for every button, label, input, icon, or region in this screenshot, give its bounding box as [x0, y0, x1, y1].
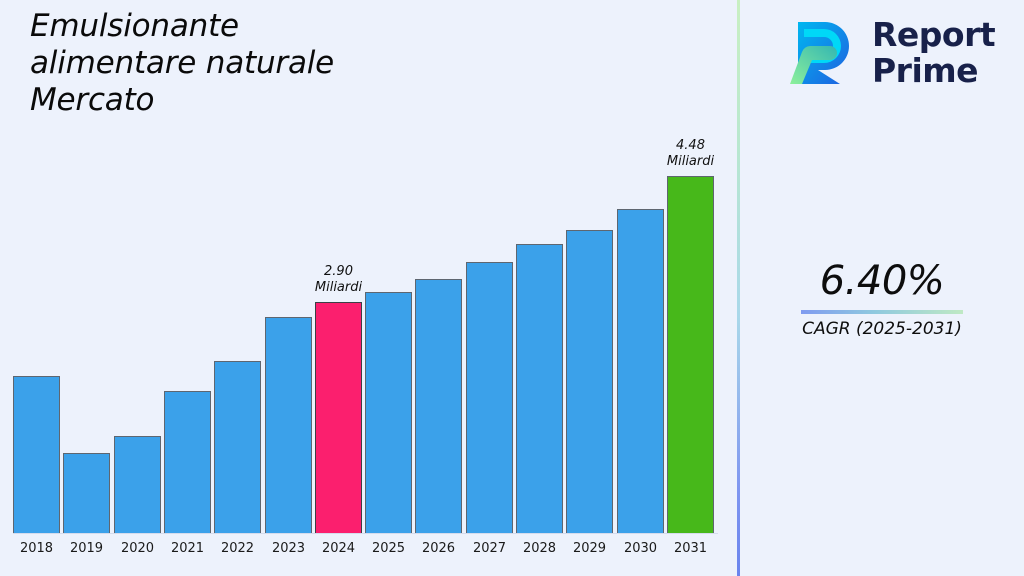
x-axis-line [13, 533, 718, 534]
bar-2023 [265, 317, 312, 533]
bar-2020 [114, 436, 161, 533]
logo-text: Report Prime [872, 17, 995, 89]
x-axis-tick-2027: 2027 [465, 541, 515, 556]
bar-2029 [566, 230, 613, 533]
x-axis-tick-2022: 2022 [213, 541, 263, 556]
bar-2019 [63, 453, 110, 533]
report-prime-r-mark-icon [778, 12, 860, 94]
cagr-caption: CAGR (2025-2031) [740, 318, 1024, 340]
bar-2031 [667, 176, 714, 533]
bar-chart-plot: 2018201920202021202220232.90 Miliardi202… [0, 0, 738, 576]
bar-2026 [415, 279, 462, 533]
x-axis-tick-2030: 2030 [616, 541, 666, 556]
cagr-block: 6.40% CAGR (2025-2031) [740, 258, 1024, 340]
bar-2018 [13, 376, 60, 533]
x-axis-tick-2019: 2019 [62, 541, 112, 556]
x-axis-tick-2024: 2024 [314, 541, 364, 556]
x-axis-tick-2031: 2031 [666, 541, 716, 556]
x-axis-tick-2029: 2029 [565, 541, 615, 556]
logo: Report Prime [778, 12, 995, 94]
bar-value-label-2031: 4.48 Miliardi [646, 138, 736, 170]
bar-2021 [164, 391, 211, 533]
x-axis-tick-2018: 2018 [12, 541, 62, 556]
cagr-value: 6.40% [740, 258, 1024, 304]
x-axis-tick-2021: 2021 [163, 541, 213, 556]
x-axis-tick-2025: 2025 [364, 541, 414, 556]
bar-2024 [315, 302, 362, 533]
cagr-divider-rule [801, 310, 963, 314]
x-axis-tick-2026: 2026 [414, 541, 464, 556]
x-axis-tick-2023: 2023 [264, 541, 314, 556]
chart-panel: Emulsionante alimentare naturale Mercato… [0, 0, 738, 576]
bar-2027 [466, 262, 513, 533]
bar-2030 [617, 209, 664, 533]
bar-2025 [365, 292, 412, 533]
bar-2028 [516, 244, 563, 533]
bar-2022 [214, 361, 261, 533]
branding-panel: Report Prime 6.40% CAGR (2025-2031) [740, 0, 1024, 576]
x-axis-tick-2028: 2028 [515, 541, 565, 556]
x-axis-tick-2020: 2020 [113, 541, 163, 556]
infographic-root: Emulsionante alimentare naturale Mercato… [0, 0, 1024, 576]
